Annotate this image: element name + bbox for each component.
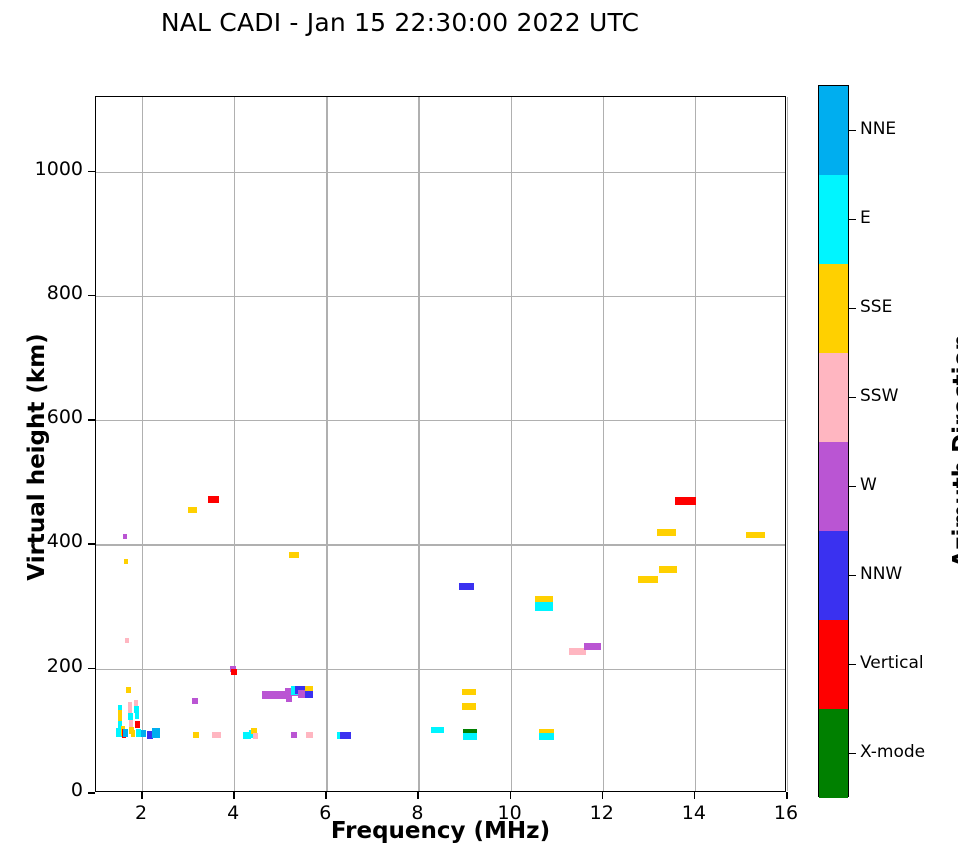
y-tick-mark: [88, 295, 95, 297]
y-tick-label: 1000: [13, 158, 83, 180]
colorbar-label-nnw: NNW: [860, 564, 902, 584]
colorbar-band-ssw: [819, 353, 848, 442]
y-tick-label: 200: [13, 655, 83, 677]
data-point: [289, 552, 299, 558]
colorbar: [818, 85, 849, 797]
data-point: [253, 733, 258, 739]
data-point: [126, 687, 131, 693]
data-point: [192, 698, 198, 704]
data-point: [123, 534, 127, 539]
colorbar-band-w: [819, 442, 848, 531]
data-point: [231, 669, 237, 675]
gridline-vertical: [603, 97, 604, 791]
colorbar-tick: [849, 575, 856, 577]
y-tick-mark: [88, 171, 95, 173]
gridline-vertical: [511, 97, 512, 791]
data-point: [431, 727, 444, 733]
data-point: [212, 732, 221, 738]
data-point: [746, 532, 765, 538]
colorbar-tick: [849, 486, 856, 488]
gridline-horizontal: [96, 669, 785, 670]
data-point: [131, 730, 135, 737]
data-point: [152, 728, 159, 738]
plot-area: [95, 96, 786, 792]
data-point: [340, 732, 351, 739]
data-point: [306, 732, 312, 738]
data-point: [188, 507, 197, 513]
data-point: [539, 733, 555, 740]
data-point: [675, 497, 696, 505]
x-tick-mark: [417, 792, 419, 799]
data-point: [141, 730, 145, 737]
data-point: [462, 703, 476, 710]
gridline-vertical: [418, 97, 419, 791]
data-point: [136, 729, 141, 737]
data-point: [305, 691, 313, 698]
y-tick-mark: [88, 668, 95, 670]
x-tick-mark: [786, 792, 788, 799]
data-point: [638, 576, 657, 583]
gridline-horizontal: [96, 172, 785, 173]
colorbar-band-sse: [819, 264, 848, 353]
gridline-vertical: [234, 97, 235, 791]
colorbar-label: Azimuth Direction: [949, 301, 958, 601]
colorbar-label-x-mode: X-mode: [860, 742, 925, 762]
y-tick-mark: [88, 792, 95, 794]
x-tick-mark: [233, 792, 235, 799]
data-point: [193, 732, 199, 738]
data-point: [135, 721, 139, 728]
x-tick-mark: [325, 792, 327, 799]
data-point: [125, 638, 129, 643]
gridline-vertical: [695, 97, 696, 791]
y-tick-mark: [88, 419, 95, 421]
colorbar-tick: [849, 397, 856, 399]
colorbar-tick: [849, 130, 856, 132]
data-point: [462, 689, 476, 695]
colorbar-label-w: W: [860, 475, 877, 495]
data-point: [463, 733, 477, 740]
colorbar-tick: [849, 664, 856, 666]
x-tick-mark: [602, 792, 604, 799]
gridline-horizontal: [96, 544, 785, 545]
colorbar-label-sse: SSE: [860, 297, 892, 317]
data-point: [135, 712, 139, 719]
y-tick-label: 0: [13, 779, 83, 801]
colorbar-band-x-mode: [819, 709, 848, 798]
colorbar-label-vertical: Vertical: [860, 653, 924, 673]
y-axis-label: Virtual height (km): [24, 292, 50, 622]
colorbar-band-vertical: [819, 620, 848, 709]
data-point: [535, 602, 553, 611]
data-point: [208, 496, 218, 503]
gridline-vertical: [142, 97, 143, 791]
gridline-vertical: [787, 97, 788, 791]
data-point: [659, 566, 677, 573]
data-point: [584, 643, 602, 650]
x-tick-mark: [141, 792, 143, 799]
colorbar-label-ssw: SSW: [860, 386, 898, 406]
data-point: [123, 729, 129, 737]
colorbar-label-nne: NNE: [860, 119, 896, 139]
data-point: [657, 529, 676, 536]
x-axis-label: Frequency (MHz): [95, 818, 786, 844]
data-point: [286, 696, 292, 702]
data-point: [262, 691, 287, 699]
chart-title: NAL CADI - Jan 15 22:30:00 2022 UTC: [0, 8, 800, 37]
y-tick-mark: [88, 543, 95, 545]
x-tick-mark: [510, 792, 512, 799]
data-point: [459, 583, 474, 590]
colorbar-band-nne: [819, 86, 848, 175]
x-tick-mark: [694, 792, 696, 799]
colorbar-band-nnw: [819, 531, 848, 620]
colorbar-tick: [849, 219, 856, 221]
colorbar-label-e: E: [860, 208, 871, 228]
gridline-horizontal: [96, 420, 785, 421]
data-point: [291, 732, 297, 738]
colorbar-tick: [849, 753, 856, 755]
colorbar-tick: [849, 308, 856, 310]
colorbar-band-e: [819, 175, 848, 264]
data-point: [124, 559, 128, 564]
gridline-horizontal: [96, 296, 785, 297]
gridline-vertical: [326, 97, 327, 791]
